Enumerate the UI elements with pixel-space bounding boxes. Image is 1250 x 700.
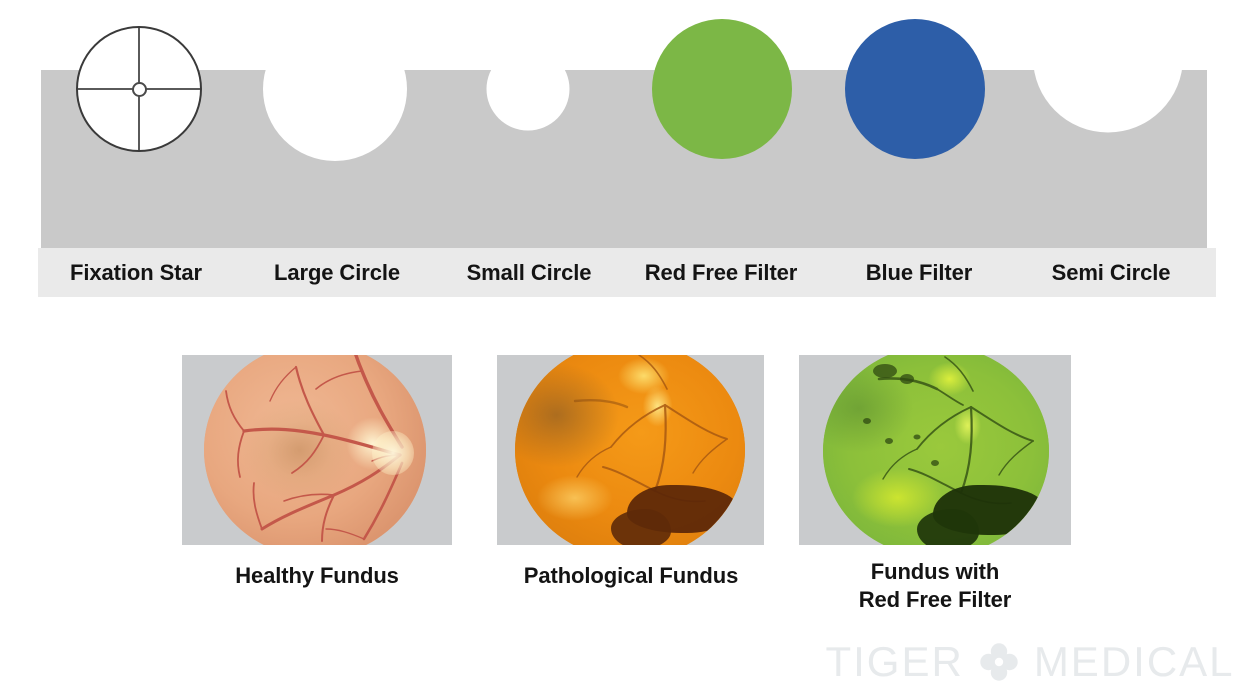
tiger-medical-quatrefoil-logo bbox=[978, 641, 1020, 683]
target-item-fixation-star[interactable] bbox=[41, 0, 237, 178]
small-circle-icon bbox=[487, 48, 570, 131]
target-item-large-circle[interactable] bbox=[237, 0, 433, 178]
target-item-blue-filter[interactable] bbox=[821, 0, 1009, 178]
target-label-large-circle: Large Circle bbox=[237, 248, 437, 297]
target-label-blue-filter: Blue Filter bbox=[823, 248, 1015, 297]
target-label-fixation-star: Fixation Star bbox=[38, 248, 234, 297]
red-free-filter-fundus-photo bbox=[799, 355, 1071, 545]
healthy-fundus-globe bbox=[204, 355, 426, 545]
red-free-hemorrhage-lobe bbox=[917, 509, 979, 545]
watermark: TIGER MEDICAL bbox=[815, 636, 1245, 688]
fixation-star-center-hub bbox=[132, 82, 147, 97]
pathological-fundus-photo bbox=[497, 355, 764, 545]
red-free-fundus-globe bbox=[823, 355, 1049, 545]
healthy-optic-disc bbox=[372, 431, 414, 475]
caption-red-free-filter-fundus: Fundus with Red Free Filter bbox=[795, 558, 1075, 614]
target-label-small-circle: Small Circle bbox=[433, 248, 625, 297]
pathological-hemorrhage-lobe bbox=[611, 509, 671, 545]
target-label-semi-circle: Semi Circle bbox=[1013, 248, 1209, 297]
caption-healthy-fundus: Healthy Fundus bbox=[172, 562, 462, 590]
target-item-small-circle[interactable] bbox=[433, 0, 623, 178]
target-item-semi-circle[interactable] bbox=[1009, 0, 1207, 178]
watermark-text-left: TIGER bbox=[825, 641, 963, 683]
large-circle-icon bbox=[263, 17, 407, 161]
healthy-fundus-photo bbox=[182, 355, 452, 545]
watermark-text-right: MEDICAL bbox=[1034, 641, 1235, 683]
target-item-red-free-filter[interactable] bbox=[623, 0, 821, 178]
pathological-fundus-globe bbox=[515, 355, 745, 545]
blue-filter-disc-icon bbox=[845, 19, 985, 159]
semi-circle-icon bbox=[1033, 58, 1183, 133]
target-label-red-free-filter: Red Free Filter bbox=[620, 248, 822, 297]
green-filter-disc-icon bbox=[652, 19, 792, 159]
caption-pathological-fundus: Pathological Fundus bbox=[483, 562, 779, 590]
fixation-star-icon bbox=[76, 26, 202, 152]
